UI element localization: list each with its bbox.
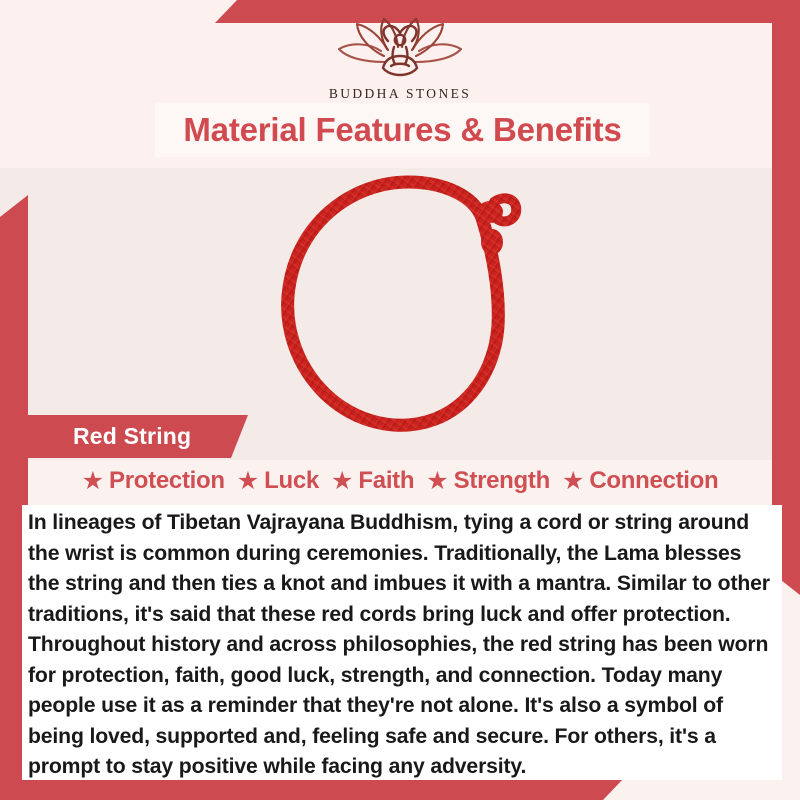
- product-infographic: BUDDHA STONES Material Features & Benefi…: [0, 0, 800, 800]
- benefit-label-protection: Protection: [109, 467, 225, 495]
- star-icon: ★: [82, 469, 104, 494]
- benefits-row: ★ Protection ★ Luck ★ Faith ★ Strength ★…: [0, 467, 800, 495]
- benefit-label-strength: Strength: [454, 467, 550, 495]
- benefit-item-luck: ★ Luck: [232, 467, 324, 495]
- benefit-label-faith: Faith: [358, 467, 414, 495]
- benefit-label-connection: Connection: [589, 467, 718, 495]
- material-label-banner: Red String: [28, 415, 248, 458]
- brand-logo: BUDDHA STONES: [0, 16, 800, 102]
- material-label: Red String: [28, 423, 191, 450]
- star-icon: ★: [237, 469, 259, 494]
- benefit-label-luck: Luck: [264, 467, 319, 495]
- description-text: In lineages of Tibetan Vajrayana Buddhis…: [28, 508, 776, 783]
- star-icon: ★: [331, 469, 353, 494]
- benefit-item-faith: ★ Faith: [326, 467, 419, 495]
- benefit-item-protection: ★ Protection: [77, 467, 230, 495]
- benefit-item-strength: ★ Strength: [421, 467, 555, 495]
- brand-name: BUDDHA STONES: [0, 86, 800, 102]
- red-string-bracelet-image: [268, 168, 538, 448]
- star-icon: ★: [426, 469, 448, 494]
- lotus-meditation-icon: [325, 16, 475, 84]
- star-icon: ★: [562, 469, 584, 494]
- title-banner: Material Features & Benefits: [155, 103, 650, 157]
- page-title: Material Features & Benefits: [183, 111, 621, 149]
- benefit-item-connection: ★ Connection: [557, 467, 723, 495]
